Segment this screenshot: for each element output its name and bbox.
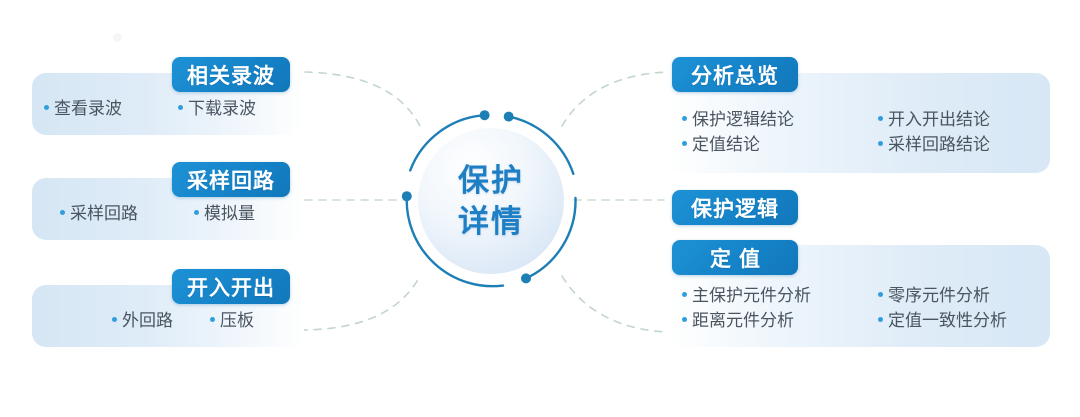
badge-right-1[interactable]: 分析总览 (672, 57, 798, 92)
list-item-label: 查看录波 (54, 96, 122, 121)
bullet-dot-icon (682, 292, 687, 297)
badge-right-3[interactable]: 定值 (672, 240, 798, 275)
list-item[interactable]: 采样回路结论 (878, 132, 1038, 157)
bullet-dot-icon (178, 105, 183, 110)
card-left-2-items: 采样回路 模拟量 (60, 201, 310, 226)
list-item[interactable]: 定值一致性分析 (878, 308, 1048, 333)
bullet-dot-icon (878, 141, 883, 146)
list-item[interactable]: 零序元件分析 (878, 283, 1038, 308)
list-item-label: 采样回路结论 (888, 132, 990, 157)
badge-left-3-label: 开入开出 (187, 272, 275, 302)
list-item[interactable]: 采样回路 (60, 201, 194, 226)
list-item[interactable]: 压板 (210, 308, 286, 333)
list-item[interactable]: 主保护元件分析 (682, 283, 878, 308)
list-item-label: 定值一致性分析 (888, 308, 1007, 333)
bullet-dot-icon (878, 116, 883, 121)
dashed-link-right-1 (562, 72, 668, 126)
bullet-dot-icon (878, 317, 883, 322)
bullet-dot-icon (44, 105, 49, 110)
badge-right-1-label: 分析总览 (691, 60, 779, 90)
list-item[interactable]: 查看录波 (44, 96, 178, 121)
center-hub-line-1: 保护 (458, 160, 524, 201)
list-item[interactable]: 下载录波 (178, 96, 298, 121)
center-hub-label: 保护 详情 (418, 128, 564, 274)
bullet-dot-icon (210, 317, 215, 322)
badge-right-2-label: 保护逻辑 (691, 193, 779, 223)
bullet-dot-icon (194, 210, 199, 215)
list-item[interactable]: 模拟量 (194, 201, 290, 226)
dashed-link-left-3 (300, 276, 420, 330)
list-item-label: 零序元件分析 (888, 283, 990, 308)
list-item-label: 定值结论 (692, 132, 760, 157)
mindmap-diagram: 保护 详情 查看录波 下载录波 相关录波 采样回路 模拟量 采样回路 (0, 0, 1080, 417)
dashed-link-right-3 (562, 276, 668, 332)
list-item-label: 距离元件分析 (692, 308, 794, 333)
ring-node-top-right (504, 112, 514, 122)
badge-left-2[interactable]: 采样回路 (172, 162, 290, 197)
bullet-dot-icon (60, 210, 65, 215)
list-item[interactable]: 定值结论 (682, 132, 878, 157)
list-item-label: 下载录波 (188, 96, 256, 121)
list-item-label: 主保护元件分析 (692, 283, 811, 308)
card-left-3-items: 外回路 压板 (112, 308, 312, 333)
dashed-link-left-1 (305, 72, 420, 126)
list-item-label: 模拟量 (204, 201, 255, 226)
bullet-dot-icon (112, 317, 117, 322)
card-right-3-items: 主保护元件分析 零序元件分析 距离元件分析 定值一致性分析 (682, 283, 1052, 333)
center-hub-line-2: 详情 (458, 201, 524, 242)
badge-left-3[interactable]: 开入开出 (172, 269, 290, 304)
bullet-dot-icon (682, 317, 687, 322)
ring-node-bottom-right (521, 273, 531, 283)
card-left-1-items: 查看录波 下载录波 (44, 96, 304, 121)
badge-left-1-label: 相关录波 (187, 60, 275, 90)
list-item-label: 保护逻辑结论 (692, 107, 794, 132)
list-item[interactable]: 保护逻辑结论 (682, 107, 878, 132)
list-item[interactable]: 距离元件分析 (682, 308, 878, 333)
badge-left-2-label: 采样回路 (187, 165, 275, 195)
badge-right-2[interactable]: 保护逻辑 (672, 190, 798, 225)
bullet-dot-icon (878, 292, 883, 297)
list-item-label: 开入开出结论 (888, 107, 990, 132)
ring-node-bottom-left (402, 191, 412, 201)
decorative-speck (113, 33, 122, 42)
list-item-label: 压板 (220, 308, 254, 333)
list-item-label: 采样回路 (70, 201, 138, 226)
list-item[interactable]: 开入开出结论 (878, 107, 1038, 132)
badge-left-1[interactable]: 相关录波 (172, 57, 290, 92)
bullet-dot-icon (682, 141, 687, 146)
list-item-label: 外回路 (122, 308, 173, 333)
ring-node-top-left (480, 110, 490, 120)
card-right-1-items: 保护逻辑结论 开入开出结论 定值结论 采样回路结论 (682, 107, 1052, 157)
badge-right-3-label: 定值 (710, 243, 768, 273)
bullet-dot-icon (682, 116, 687, 121)
list-item[interactable]: 外回路 (112, 308, 210, 333)
